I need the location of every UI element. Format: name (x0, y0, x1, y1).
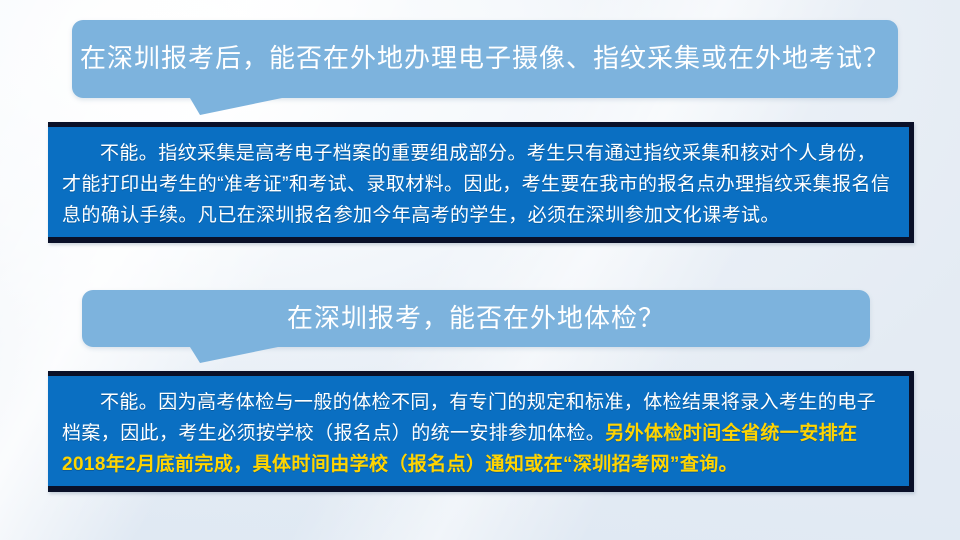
slide-canvas: 在深圳报考后，能否在外地办理电子摄像、指纹采集或在外地考试？ 不能。指纹采集是高… (0, 0, 960, 540)
question-bubble-2-wrap: 在深圳报考，能否在外地体检？ (82, 290, 870, 347)
question-bubble-1: 在深圳报考后，能否在外地办理电子摄像、指纹采集或在外地考试？ (72, 20, 898, 98)
answer-panel-2: 不能。因为高考体检与一般的体检不同，有专门的规定和标准，体检结果将录入考生的电子… (48, 371, 914, 492)
answer-text-1: 不能。指纹采集是高考电子档案的重要组成部分。考生只有通过指纹采集和核对个人身份，… (48, 127, 909, 241)
question-bubble-1-wrap: 在深圳报考后，能否在外地办理电子摄像、指纹采集或在外地考试？ (72, 20, 898, 98)
bubble-tail-icon-1 (190, 98, 282, 124)
bubble-tail-icon-2 (190, 347, 278, 371)
question-bubble-2: 在深圳报考，能否在外地体检？ (82, 290, 870, 347)
answer-1-plain: 不能。指纹采集是高考电子档案的重要组成部分。考生只有通过指纹采集和核对个人身份，… (62, 143, 890, 226)
answer-panel-1: 不能。指纹采集是高考电子档案的重要组成部分。考生只有通过指纹采集和核对个人身份，… (48, 122, 914, 243)
answer-text-2: 不能。因为高考体检与一般的体检不同，有专门的规定和标准，体检结果将录入考生的电子… (48, 376, 909, 490)
question-text-1: 在深圳报考后，能否在外地办理电子摄像、指纹采集或在外地考试？ (72, 43, 898, 74)
question-text-2: 在深圳报考，能否在外地体检？ (82, 303, 870, 334)
